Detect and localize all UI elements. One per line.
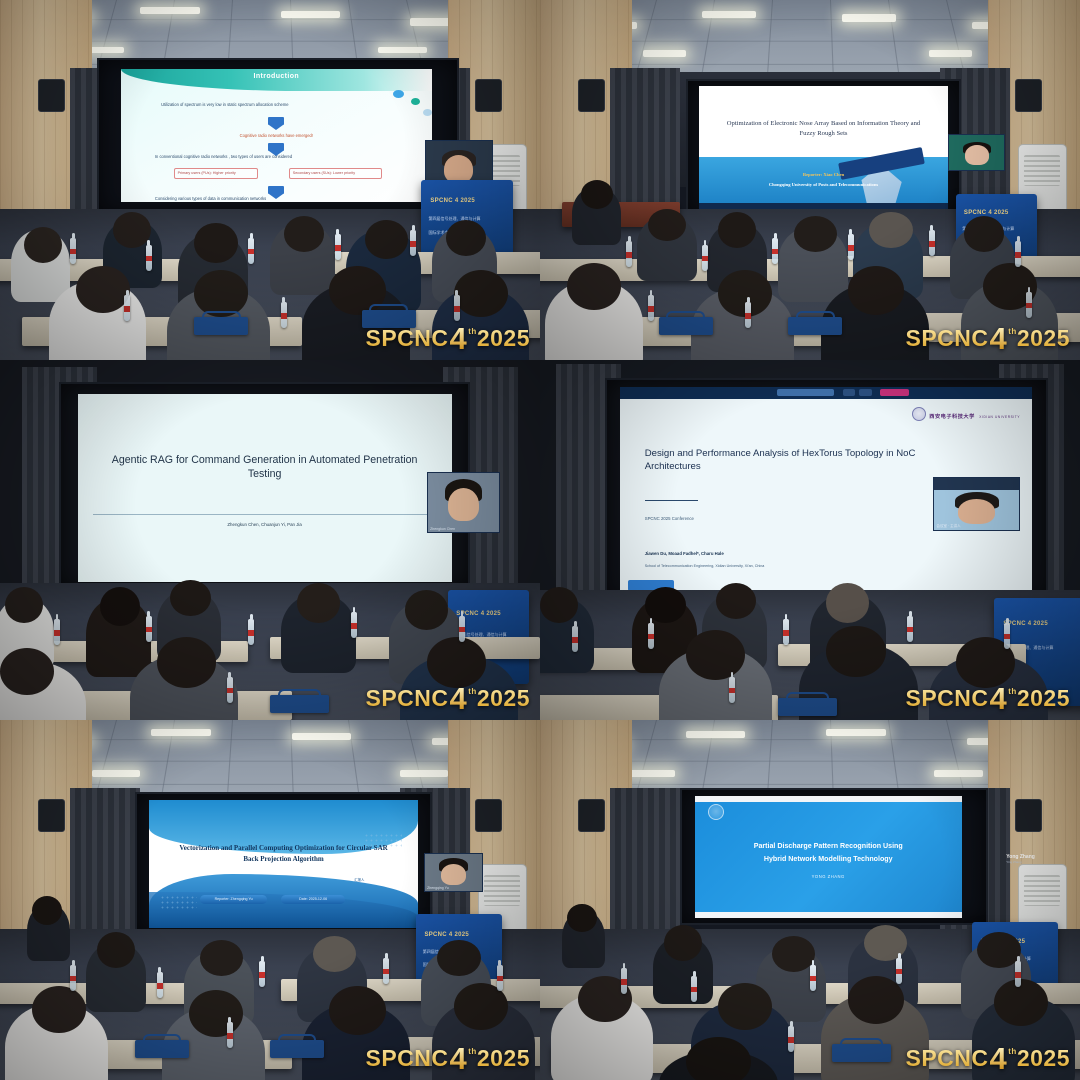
wall-speaker-right bbox=[475, 799, 502, 831]
slide-author: YONG ZHANG bbox=[721, 874, 935, 879]
podium-line-1: SPCNC 4 2025 bbox=[1003, 621, 1048, 627]
slide-introduction: Introduction Utilization of spectrum is … bbox=[121, 69, 432, 202]
watermark-ordinal-suffix: th bbox=[1008, 1047, 1017, 1056]
video-participant-name: Zhengkun Chen bbox=[430, 527, 455, 531]
projection-screen: Agentic RAG for Command Generation in Au… bbox=[59, 382, 469, 591]
slide-box-secondary-users: Secondary users (SUs): Lower priority bbox=[289, 168, 382, 179]
university-crest-icon bbox=[912, 407, 926, 421]
panel-5-photo: Vectorization and Parallel Computing Opt… bbox=[0, 720, 540, 1080]
stage-curtain-left bbox=[70, 788, 140, 936]
watermark-year: 2025 bbox=[1017, 1045, 1070, 1072]
slide-header-title: Introduction bbox=[121, 73, 432, 80]
slide-authors: Zhengkun Chen, Chuanjun Yi, Pan Jia bbox=[115, 522, 414, 527]
wall-speaker-left bbox=[38, 799, 65, 831]
watermark-prefix: SPCNC bbox=[906, 1045, 989, 1072]
lecture-room: 西安电子科技大学 XIDIAN UNIVERSITY Design and Pe… bbox=[540, 360, 1080, 720]
slide-corner-label: 汇报人 bbox=[354, 877, 364, 882]
institution-crest-icon bbox=[708, 804, 724, 820]
wall-speaker-left bbox=[578, 799, 605, 831]
stage-curtain-left bbox=[610, 788, 680, 936]
video-call-thumbnail[interactable]: 会议室 · 主讲人 bbox=[933, 477, 1020, 531]
slide-sar-backprojection: Vectorization and Parallel Computing Opt… bbox=[149, 800, 419, 929]
slide-title: Vectorization and Parallel Computing Opt… bbox=[176, 843, 392, 865]
wall-speaker-right bbox=[475, 79, 502, 111]
presentation-taskbar bbox=[699, 203, 949, 209]
slide-title: Agentic RAG for Command Generation in Au… bbox=[100, 454, 429, 482]
watermark-prefix: SPCNC bbox=[366, 325, 449, 352]
lecture-room: Agentic RAG for Command Generation in Au… bbox=[0, 360, 540, 720]
watermark-year: 2025 bbox=[477, 685, 530, 712]
watermark-ordinal: 4 bbox=[450, 327, 468, 352]
slide-title: Partial Discharge Pattern Recognition Us… bbox=[716, 840, 941, 866]
university-logo: 西安电子科技大学 XIDIAN UNIVERSITY bbox=[912, 405, 1020, 423]
slide-affiliation: School of Telecommunication Engineering,… bbox=[645, 564, 765, 568]
watermark-ordinal: 4 bbox=[450, 687, 468, 712]
video-call-thumbnail[interactable]: Zhengkun Chen bbox=[427, 472, 500, 533]
watermark-logo: SPCNC 4 th 2025 bbox=[366, 685, 531, 712]
watermark-prefix: SPCNC bbox=[906, 325, 989, 352]
slide-date-button: Date: 2025-12-06 bbox=[281, 895, 346, 904]
watermark-ordinal: 4 bbox=[990, 327, 1008, 352]
wall-speaker-left bbox=[578, 79, 605, 111]
watermark-ordinal-suffix: th bbox=[468, 1047, 477, 1056]
watermark-year: 2025 bbox=[1017, 325, 1070, 352]
presenter-nametag: Yong Zhang Ying Zhang bbox=[1006, 854, 1035, 864]
watermark-year: 2025 bbox=[1017, 685, 1070, 712]
slide-bullet-3: Considering various types of data in com… bbox=[155, 196, 395, 201]
lecture-room: Partial Discharge Pattern Recognition Us… bbox=[540, 720, 1080, 1080]
lecture-room: Optimization of Electronic Nose Array Ba… bbox=[540, 0, 1080, 360]
projection-screen: Optimization of Electronic Nose Array Ba… bbox=[686, 79, 961, 216]
watermark-ordinal-suffix: th bbox=[1008, 687, 1017, 696]
slide-agentic-rag: Agentic RAG for Command Generation in Au… bbox=[78, 394, 452, 582]
projection-screen: 西安电子科技大学 XIDIAN UNIVERSITY Design and Pe… bbox=[605, 378, 1048, 601]
panel-2-photo: Optimization of Electronic Nose Array Ba… bbox=[540, 0, 1080, 360]
panel-3-photo: Agentic RAG for Command Generation in Au… bbox=[0, 360, 540, 720]
wall-speaker-right bbox=[1015, 79, 1042, 111]
watermark-logo: SPCNC 4 th 2025 bbox=[366, 1045, 531, 1072]
watermark-ordinal-suffix: th bbox=[468, 687, 477, 696]
wall-speaker-left bbox=[38, 79, 65, 111]
watermark-logo: SPCNC 4 th 2025 bbox=[366, 325, 531, 352]
video-call-thumbnail[interactable] bbox=[948, 134, 1005, 171]
presenter-name-sub: Ying Zhang bbox=[1006, 860, 1035, 864]
watermark-ordinal: 4 bbox=[450, 1047, 468, 1072]
slide-reporter: Reporter: Xiao Chen bbox=[724, 172, 924, 177]
watermark-prefix: SPCNC bbox=[906, 685, 989, 712]
slide-partial-discharge: Partial Discharge Pattern Recognition Us… bbox=[695, 796, 962, 918]
watermark-logo: SPCNC 4 th 2025 bbox=[906, 1045, 1071, 1072]
watermark-ordinal: 4 bbox=[990, 687, 1008, 712]
university-name-cn: 西安电子科技大学 bbox=[929, 414, 975, 420]
watermark-logo: SPCNC 4 th 2025 bbox=[906, 685, 1071, 712]
slide-subtitle: SPCNC 2025 Conference bbox=[645, 516, 694, 521]
watermark-prefix: SPCNC bbox=[366, 1045, 449, 1072]
projection-screen: Partial Discharge Pattern Recognition Us… bbox=[680, 788, 988, 925]
video-participant-name: 会议室 · 主讲人 bbox=[936, 524, 960, 529]
slide-title-line-1: Partial Discharge Pattern Recognition Us… bbox=[754, 842, 903, 850]
stage-curtain-left bbox=[610, 68, 680, 216]
slide-title: Optimization of Electronic Nose Array Ba… bbox=[719, 119, 929, 139]
watermark-ordinal-suffix: th bbox=[1008, 327, 1017, 336]
watermark-prefix: SPCNC bbox=[366, 685, 449, 712]
video-call-thumbnail[interactable]: Zhengqing Yu bbox=[424, 853, 483, 892]
slide-hextorus: 西安电子科技大学 XIDIAN UNIVERSITY Design and Pe… bbox=[620, 387, 1033, 593]
slide-reporter-button: Reporter: Zhengqing Yu bbox=[200, 895, 267, 904]
slide-box-primary-users: Primary users (PUs): Higher priority bbox=[174, 168, 258, 179]
slide-electronic-nose: Optimization of Electronic Nose Array Ba… bbox=[699, 86, 949, 208]
watermark-logo: SPCNC 4 th 2025 bbox=[906, 325, 1071, 352]
slide-middle-text: Cognitive radio networks have emerged! bbox=[121, 133, 432, 138]
watermark-ordinal: 4 bbox=[990, 1047, 1008, 1072]
university-name-en: XIDIAN UNIVERSITY bbox=[979, 415, 1020, 419]
panel-1-photo: Introduction Utilization of spectrum is … bbox=[0, 0, 540, 360]
slide-authors: Jiawen Du, Moaad Fadhel*, Charu Hale bbox=[645, 551, 724, 556]
slide-bullet-2: In conventional cognitive radio networks… bbox=[155, 154, 395, 159]
lecture-room: Vectorization and Parallel Computing Opt… bbox=[0, 720, 540, 1080]
slide-affiliation: Chongqing University of Posts and Teleco… bbox=[714, 182, 934, 187]
slide-bullet-1: Utilization of spectrum is very low in s… bbox=[161, 102, 395, 107]
podium-line-1: SPCNC 4 2025 bbox=[430, 198, 475, 204]
wall-speaker-right bbox=[1015, 799, 1042, 831]
watermark-year: 2025 bbox=[477, 325, 530, 352]
projection-screen: Vectorization and Parallel Computing Opt… bbox=[135, 792, 432, 936]
lecture-room: Introduction Utilization of spectrum is … bbox=[0, 0, 540, 360]
projection-screen: Introduction Utilization of spectrum is … bbox=[97, 58, 459, 216]
watermark-ordinal-suffix: th bbox=[468, 327, 477, 336]
photo-collage-grid: Introduction Utilization of spectrum is … bbox=[0, 0, 1080, 1080]
watermark-year: 2025 bbox=[477, 1045, 530, 1072]
panel-4-photo: 西安电子科技大学 XIDIAN UNIVERSITY Design and Pe… bbox=[540, 360, 1080, 720]
slide-title: Design and Performance Analysis of HexTo… bbox=[645, 448, 934, 474]
panel-6-photo: Partial Discharge Pattern Recognition Us… bbox=[540, 720, 1080, 1080]
slide-title-line-2: Hybrid Network Modelling Technology bbox=[764, 855, 893, 863]
podium-line-1: SPCNC 4 2025 bbox=[424, 932, 469, 938]
video-participant-name: Zhengqing Yu bbox=[427, 886, 449, 890]
